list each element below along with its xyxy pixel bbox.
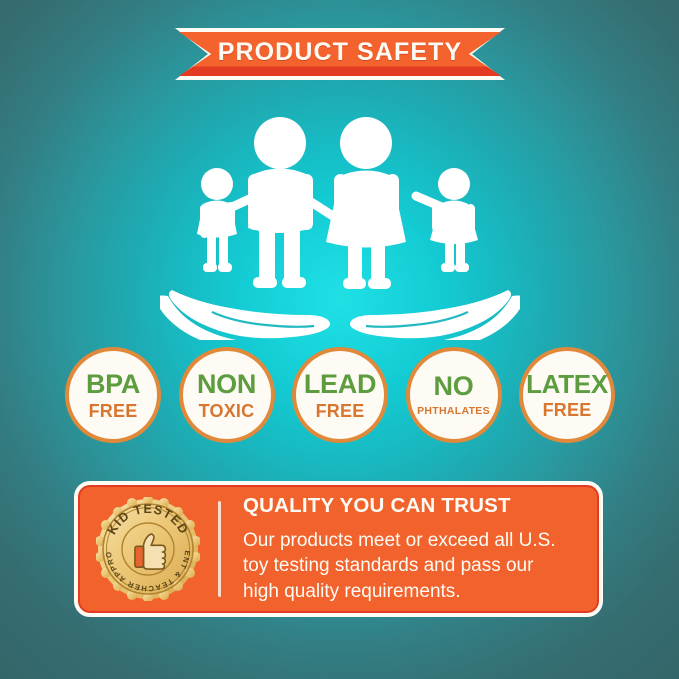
quality-body-line-1: Our products meet or exceed all U.S.	[243, 528, 585, 553]
badge-main-label: NO	[434, 373, 474, 400]
child-right-figure	[430, 168, 478, 272]
kid-tested-seal: KID TESTED PARENT & TEACHER APPROVED	[96, 497, 200, 601]
child-left-figure	[197, 168, 237, 272]
mother-figure	[326, 117, 406, 289]
badge-main-label: LEAD	[304, 371, 376, 398]
quality-body-line-3: high quality requirements.	[243, 579, 585, 604]
badge-latex-free: LATEX FREE	[519, 347, 615, 443]
badge-lead-free: LEAD FREE	[292, 347, 388, 443]
quality-body-line-2: toy testing standards and pass our	[243, 553, 585, 578]
badge-sub-label: FREE	[316, 402, 365, 420]
family-in-hands-illustration	[160, 100, 520, 340]
open-hand-left	[160, 290, 330, 340]
badge-main-label: BPA	[86, 371, 140, 398]
product-safety-infographic: PRODUCT SAFETY	[0, 0, 679, 679]
quality-text-block: QUALITY YOU CAN TRUST Our products meet …	[221, 494, 599, 604]
panel-divider	[218, 501, 221, 597]
open-hand-right	[350, 290, 520, 340]
safety-badge-row: BPA FREE NON TOXIC LEAD FREE NO PHTHALAT…	[65, 345, 615, 445]
father-figure	[248, 117, 313, 288]
badge-sub-label: FREE	[543, 401, 592, 419]
seal-cell: KID TESTED PARENT & TEACHER APPROVED	[78, 497, 218, 601]
quality-you-can-trust-panel: KID TESTED PARENT & TEACHER APPROVED QUA…	[74, 481, 603, 617]
family-figures-group	[197, 117, 478, 289]
badge-sub-label: FREE	[89, 402, 138, 420]
badge-non-toxic: NON TOXIC	[179, 347, 275, 443]
badge-sub-label: TOXIC	[199, 402, 255, 420]
badge-sub-label: PHTHALATES	[417, 406, 490, 417]
open-hands-group	[160, 290, 520, 340]
badge-no-phthalates: NO PHTHALATES	[406, 347, 502, 443]
quality-heading: QUALITY YOU CAN TRUST	[243, 494, 585, 518]
banner-title: PRODUCT SAFETY	[175, 28, 505, 80]
badge-main-label: LATEX	[526, 371, 608, 397]
badge-bpa-free: BPA FREE	[65, 347, 161, 443]
badge-main-label: NON	[197, 371, 256, 398]
product-safety-banner: PRODUCT SAFETY	[175, 28, 505, 80]
